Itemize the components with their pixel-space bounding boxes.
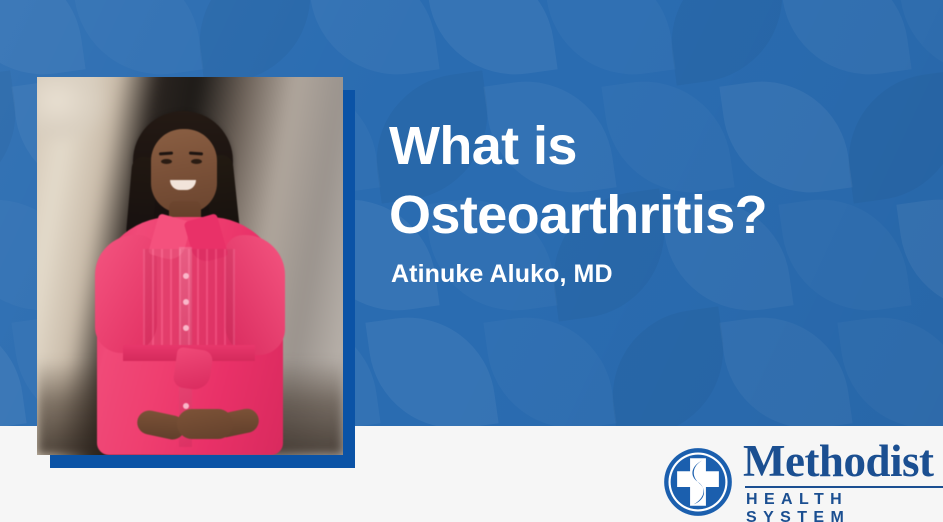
methodist-tagline: HEALTH SYSTEM xyxy=(746,491,943,522)
presenter-name: Atinuke Aluko, MD xyxy=(391,260,613,289)
slide-title-line-2: Osteoarthritis? xyxy=(389,181,909,250)
presenter-photo xyxy=(37,77,343,455)
methodist-logo: Methodist HEALTH SYSTEM xyxy=(662,437,943,522)
presenter-figure xyxy=(37,77,343,455)
slide-title-line-1: What is xyxy=(389,112,909,181)
methodist-wordmark: Methodist HEALTH SYSTEM xyxy=(743,437,943,522)
slide-title: What is Osteoarthritis? xyxy=(389,112,909,250)
presentation-slide: What is Osteoarthritis? Atinuke Aluko, M… xyxy=(0,0,943,522)
methodist-cross-circle-icon xyxy=(662,446,734,518)
logo-divider-rule xyxy=(745,486,943,488)
methodist-name: Methodist xyxy=(743,439,943,484)
